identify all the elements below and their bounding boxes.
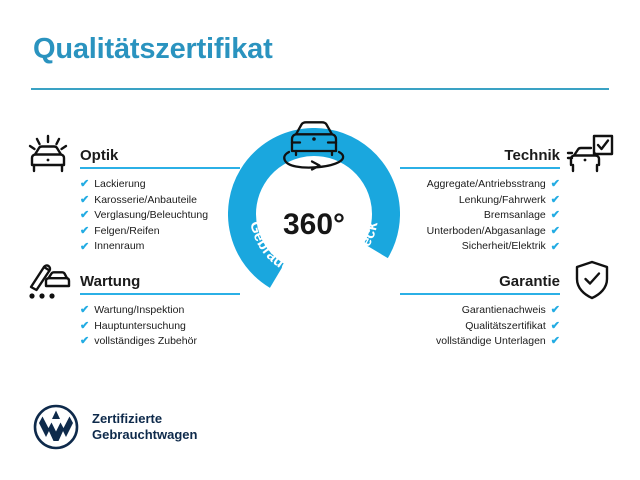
check-icon: ✔ — [80, 305, 89, 316]
car-rotate-icon — [274, 115, 354, 173]
section-technik-header: Technik — [400, 136, 560, 166]
section-garantie: Garantie Garantienachweis ✔ Qualitätszer… — [400, 262, 560, 350]
check-icon: ✔ — [551, 242, 560, 253]
section-optik: Optik ✔ Lackierung ✔ Karosserie/Anbautei… — [80, 136, 240, 255]
check-icon: ✔ — [551, 210, 560, 221]
check-icon: ✔ — [80, 179, 89, 190]
title-divider — [31, 88, 609, 90]
section-optik-header: Optik — [80, 136, 240, 166]
list-item: ✔ Wartung/Inspektion — [80, 303, 240, 319]
check-icon: ✔ — [551, 305, 560, 316]
list-item: ✔ Hauptuntersuchung — [80, 319, 240, 335]
list-item-label: Sicherheit/Elektrik — [462, 239, 546, 255]
section-wartung: Wartung ✔ Wartung/Inspektion ✔ Hauptunte… — [80, 262, 240, 350]
vw-logo — [33, 404, 79, 450]
section-wartung-title: Wartung — [80, 273, 140, 290]
list-item: Aggregate/Antriebsstrang ✔ — [400, 177, 560, 193]
check-icon: ✔ — [80, 210, 89, 221]
section-technik-title: Technik — [504, 147, 560, 164]
certificate-page: Qualitätszertifikat Optik ✔ Lackierung — [0, 0, 640, 480]
list-item: Bremsanlage ✔ — [400, 208, 560, 224]
list-item: ✔ Innenraum — [80, 239, 240, 255]
list-item: ✔ Verglasung/Beleuchtung — [80, 208, 240, 224]
list-item-label: Bremsanlage — [484, 208, 546, 224]
list-item-label: Qualitätszertifikat — [465, 319, 546, 335]
list-item-label: Aggregate/Antriebsstrang — [427, 177, 546, 193]
car-checkbox-icon — [566, 133, 614, 177]
section-garantie-header: Garantie — [400, 262, 560, 292]
list-item: Unterboden/Abgasanlage ✔ — [400, 224, 560, 240]
list-item-label: Unterboden/Abgasanlage — [427, 224, 546, 240]
list-item-label: Wartung/Inspektion — [94, 303, 184, 319]
section-technik-list: Aggregate/Antriebsstrang ✔ Lenkung/Fahrw… — [400, 177, 560, 255]
check-icon: ✔ — [551, 336, 560, 347]
shield-check-icon — [568, 258, 616, 302]
list-item: Qualitätszertifikat ✔ — [400, 319, 560, 335]
section-optik-title: Optik — [80, 147, 118, 164]
check-icon: ✔ — [551, 226, 560, 237]
list-item: ✔ Lackierung — [80, 177, 240, 193]
check-icon: ✔ — [551, 321, 560, 332]
list-item-label: Karosserie/Anbauteile — [94, 193, 197, 209]
section-optik-list: ✔ Lackierung ✔ Karosserie/Anbauteile ✔ V… — [80, 177, 240, 255]
section-wartung-header: Wartung — [80, 262, 240, 292]
list-item: Garantienachweis ✔ — [400, 303, 560, 319]
badge-360-gebrauchtwagen-check: Gebrauchtwagen-Check 360° — [228, 128, 400, 300]
list-item: vollständige Unterlagen ✔ — [400, 334, 560, 350]
list-item-label: Innenraum — [94, 239, 144, 255]
check-icon: ✔ — [80, 336, 89, 347]
section-optik-divider — [80, 167, 240, 169]
list-item: Lenkung/Fahrwerk ✔ — [400, 193, 560, 209]
list-item: ✔ Felgen/Reifen — [80, 224, 240, 240]
check-icon: ✔ — [80, 195, 89, 206]
check-icon: ✔ — [80, 226, 89, 237]
section-wartung-list: ✔ Wartung/Inspektion ✔ Hauptuntersuchung… — [80, 303, 240, 350]
section-technik-divider — [400, 167, 560, 169]
vw-lockup-text: Zertifizierte Gebrauchtwagen — [92, 411, 197, 443]
vw-lockup: Zertifizierte Gebrauchtwagen — [33, 404, 197, 450]
car-shine-icon — [24, 133, 72, 177]
car-wrench-icon — [24, 258, 72, 302]
vw-lockup-line1: Zertifizierte — [92, 411, 197, 427]
badge-value: 360° — [228, 208, 400, 242]
list-item: ✔ Karosserie/Anbauteile — [80, 193, 240, 209]
section-technik: Technik Aggregate/Antriebsstrang ✔ Lenku… — [400, 136, 560, 255]
list-item-label: Hauptuntersuchung — [94, 319, 186, 335]
section-garantie-list: Garantienachweis ✔ Qualitätszertifikat ✔… — [400, 303, 560, 350]
list-item-label: vollständige Unterlagen — [436, 334, 546, 350]
list-item-label: vollständiges Zubehör — [94, 334, 197, 350]
list-item-label: Lenkung/Fahrwerk — [459, 193, 546, 209]
check-icon: ✔ — [80, 321, 89, 332]
list-item-label: Felgen/Reifen — [94, 224, 159, 240]
check-icon: ✔ — [80, 242, 89, 253]
list-item-label: Lackierung — [94, 177, 145, 193]
list-item-label: Verglasung/Beleuchtung — [94, 208, 208, 224]
page-title: Qualitätszertifikat — [33, 33, 273, 66]
section-wartung-divider — [80, 293, 240, 295]
check-icon: ✔ — [551, 195, 560, 206]
list-item-label: Garantienachweis — [462, 303, 546, 319]
vw-lockup-line2: Gebrauchtwagen — [92, 427, 197, 443]
list-item: ✔ vollständiges Zubehör — [80, 334, 240, 350]
list-item: Sicherheit/Elektrik ✔ — [400, 239, 560, 255]
check-icon: ✔ — [551, 179, 560, 190]
section-garantie-title: Garantie — [499, 273, 560, 290]
section-garantie-divider — [400, 293, 560, 295]
